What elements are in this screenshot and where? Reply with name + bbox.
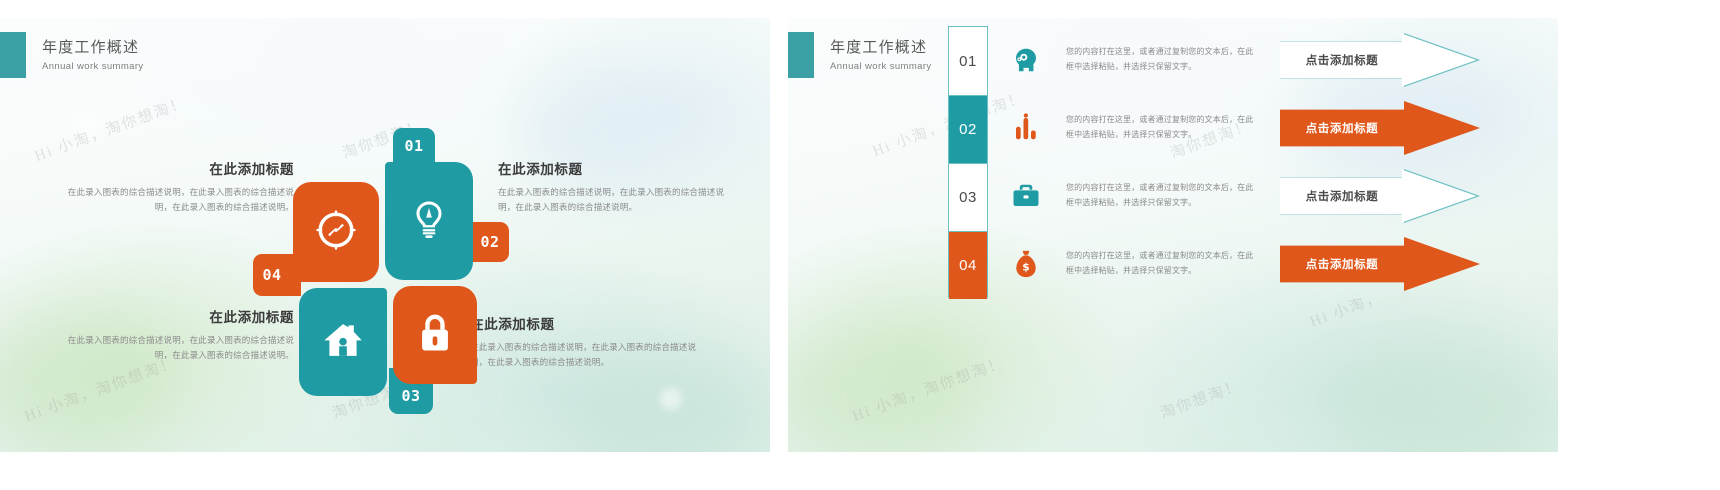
arrow-label: 点击添加标题 xyxy=(1286,33,1398,87)
house-icon xyxy=(323,320,363,365)
bokeh-blob xyxy=(788,328,978,452)
arrow-button-02[interactable]: 点击添加标题 xyxy=(1280,101,1480,155)
quadrant-box-lock[interactable] xyxy=(393,286,477,384)
list-item-body: 您的内容打在这里，或者通过复制您的文本后，在此框中选择粘贴，并选择只保留文字。 xyxy=(1066,45,1256,75)
header-accent-bar xyxy=(0,32,26,78)
slide-deck: 年度工作概述 Annual work summary Hi 小淘，淘你想淘！ 淘… xyxy=(0,0,1720,490)
text-block-body: 在此录入图表的综合描述说明，在此录入图表的综合描述说明，在此录入图表的综合描述说… xyxy=(470,340,702,370)
text-block-title: 在此添加标题 xyxy=(62,158,294,178)
bokeh-dot xyxy=(660,388,682,410)
text-block-01: 在此添加标题 在此录入图表的综合描述说明，在此录入图表的综合描述说明，在此录入图… xyxy=(62,158,294,215)
slide-right: 年度工作概述 Annual work summary Hi 小淘，淘你想淘！ 淘… xyxy=(788,18,1558,452)
text-block-body: 在此录入图表的综合描述说明，在此录入图表的综合描述说明，在此录入图表的综合描述说… xyxy=(62,333,294,363)
lock-icon xyxy=(415,313,455,358)
quadrant-diagram: 01 02 03 04 xyxy=(293,146,473,358)
bokeh-blob xyxy=(1328,338,1558,452)
page-title: 年度工作概述 xyxy=(42,38,144,58)
arrow-label: 点击添加标题 xyxy=(1286,169,1398,223)
compass-icon xyxy=(316,210,356,255)
watermark: Hi 小淘，淘你想淘！ xyxy=(31,91,189,166)
list-item: 您的内容打在这里，或者通过复制您的文本后，在此框中选择粘贴，并选择只保留文字。 … xyxy=(788,26,1558,94)
bokeh-dot xyxy=(75,113,101,139)
text-block-03: 在此添加标题 在此录入图表的综合描述说明，在此录入图表的综合描述说明，在此录入图… xyxy=(62,306,294,363)
money-bag-icon: $ xyxy=(1010,248,1042,280)
text-block-04: 在此添加标题 在此录入图表的综合描述说明，在此录入图表的综合描述说明，在此录入图… xyxy=(470,313,702,370)
text-block-02: 在此添加标题 在此录入图表的综合描述说明，在此录入图表的综合描述说明，在此录入图… xyxy=(498,158,730,215)
arrow-label: 点击添加标题 xyxy=(1286,101,1398,155)
list-item-body: 您的内容打在这里，或者通过复制您的文本后，在此框中选择粘贴，并选择只保留文字。 xyxy=(1066,249,1256,279)
quadrant-box-compass[interactable] xyxy=(293,182,379,282)
lightbulb-icon xyxy=(409,199,449,244)
list-item: 您的内容打在这里，或者通过复制您的文本后，在此框中选择粘贴，并选择只保留文字。 … xyxy=(788,162,1558,230)
arrow-button-01[interactable]: 点击添加标题 xyxy=(1280,33,1480,87)
text-block-body: 在此录入图表的综合描述说明，在此录入图表的综合描述说明，在此录入图表的综合描述说… xyxy=(498,185,730,215)
quadrant-box-house[interactable] xyxy=(299,288,387,396)
list-item-body: 您的内容打在这里，或者通过复制您的文本后，在此框中选择粘贴，并选择只保留文字。 xyxy=(1066,113,1256,143)
list-item: $ 您的内容打在这里，或者通过复制您的文本后，在此框中选择粘贴，并选择只保留文字… xyxy=(788,230,1558,298)
list-item-body: 您的内容打在这里，或者通过复制您的文本后，在此框中选择粘贴，并选择只保留文字。 xyxy=(1066,181,1256,211)
slide-header: 年度工作概述 Annual work summary xyxy=(0,32,144,78)
text-block-body: 在此录入图表的综合描述说明，在此录入图表的综合描述说明，在此录入图表的综合描述说… xyxy=(62,185,294,215)
head-gears-icon xyxy=(1010,44,1042,76)
page-subtitle: Annual work summary xyxy=(42,61,144,72)
slide-gap xyxy=(770,0,788,490)
quadrant-box-lightbulb[interactable] xyxy=(385,162,473,280)
text-block-title: 在此添加标题 xyxy=(62,306,294,326)
slide-left: 年度工作概述 Annual work summary Hi 小淘，淘你想淘！ 淘… xyxy=(0,18,770,452)
svg-text:$: $ xyxy=(1022,260,1029,273)
briefcase-icon xyxy=(1010,180,1042,212)
arrow-label: 点击添加标题 xyxy=(1286,237,1398,291)
watermark: Hi 小淘，淘你想淘！ xyxy=(849,351,1007,426)
text-block-title: 在此添加标题 xyxy=(470,313,702,333)
list-item: 您的内容打在这里，或者通过复制您的文本后，在此框中选择粘贴，并选择只保留文字。 … xyxy=(788,94,1558,162)
bar-chart-icon xyxy=(1010,112,1042,144)
arrow-button-03[interactable]: 点击添加标题 xyxy=(1280,169,1480,223)
watermark: 淘你想淘！ xyxy=(1157,374,1244,423)
text-block-title: 在此添加标题 xyxy=(498,158,730,178)
arrow-button-04[interactable]: 点击添加标题 xyxy=(1280,237,1480,291)
